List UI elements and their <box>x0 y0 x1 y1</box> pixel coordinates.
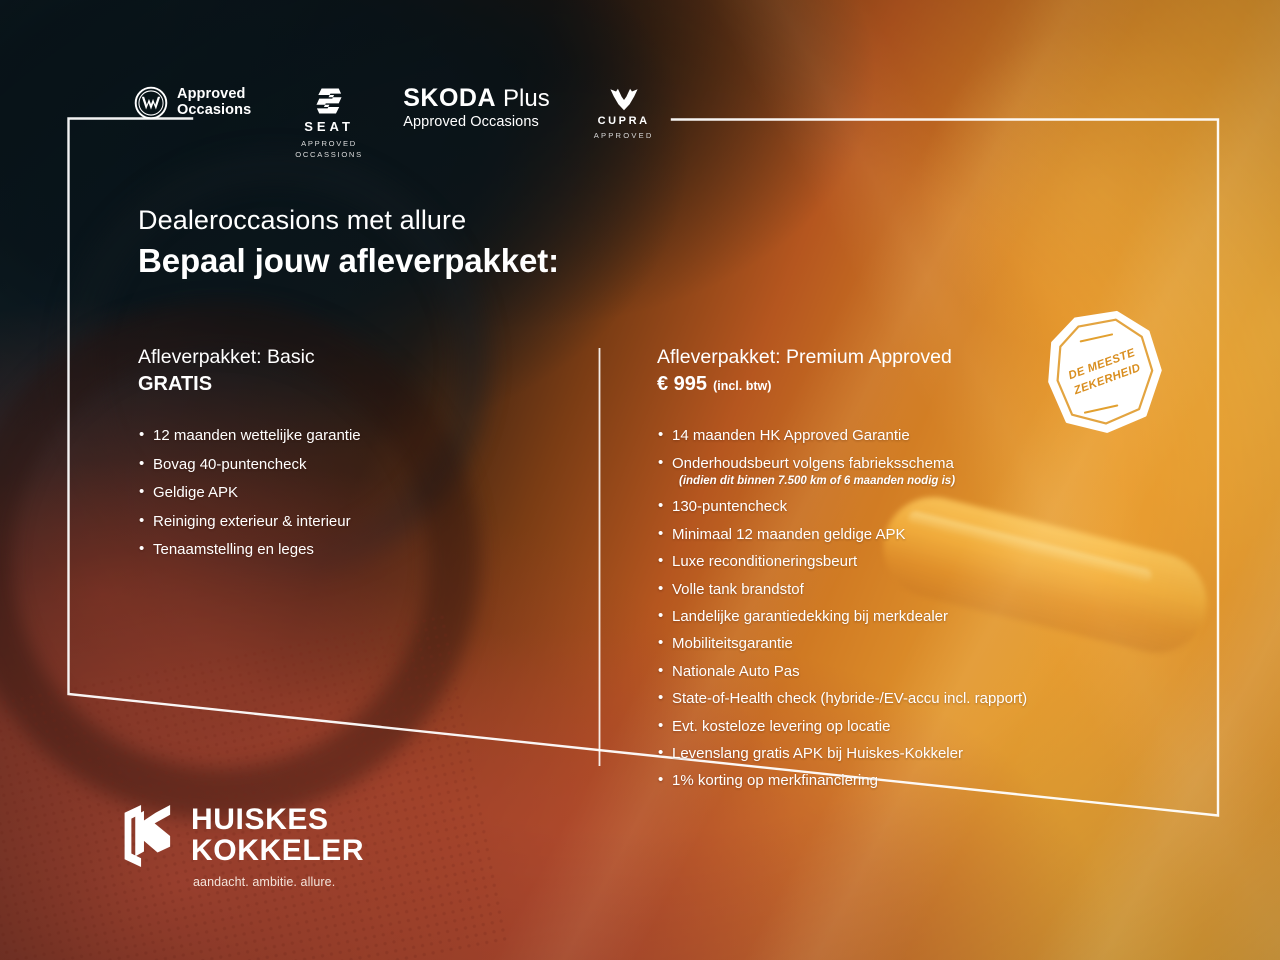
feature-text: Onderhoudsbeurt volgens fabrieksschema <box>672 455 954 472</box>
list-item: Volle tank brandstof <box>657 581 1147 598</box>
seat-logo-icon <box>316 86 342 116</box>
list-item: 130-puntencheck <box>657 498 1147 515</box>
dealer-tagline: aandacht. ambitie. allure. <box>193 875 364 889</box>
list-item: Geldige APK <box>138 484 568 501</box>
feature-text: Nationale Auto Pas <box>672 663 800 680</box>
vw-logo-icon <box>134 86 168 120</box>
package-column-basic: Afleverpakket: Basic GRATIS 12 maanden w… <box>138 345 568 569</box>
basic-package-name: Afleverpakket: Basic <box>138 345 568 370</box>
headline-title: Bepaal jouw afleverpakket: <box>138 242 559 280</box>
cupra-logo-word: CUPRA <box>594 116 654 127</box>
premium-feature-list: 14 maanden HK Approved Garantie Onderhou… <box>657 427 1147 789</box>
headline-block: Dealeroccasions met allure Bepaal jouw a… <box>138 204 559 280</box>
feature-text: State-of-Health check (hybride-/EV-accu … <box>672 690 1027 707</box>
poster-canvas: Approved Occasions SEAT APPROVED OCCASSI… <box>0 0 1280 960</box>
list-item: Minimaal 12 maanden geldige APK <box>657 526 1147 543</box>
feature-text: 12 maanden wettelijke garantie <box>153 427 361 444</box>
feature-text: Volle tank brandstof <box>672 581 804 598</box>
logo-skoda-plus-approved-occasions: SKODA Plus Approved Occasions <box>403 86 549 130</box>
feature-text: Tenaamstelling en leges <box>153 541 314 558</box>
feature-text: Landelijke garantiedekking bij merkdeale… <box>672 608 948 625</box>
brand-logo-strip: Approved Occasions SEAT APPROVED OCCASSI… <box>134 86 678 161</box>
vw-logo-line1: Approved <box>177 87 251 103</box>
huiskes-kokkeler-monogram-icon <box>112 804 174 868</box>
dealer-name-block: HUISKES KOKKELER aandacht. ambitie. allu… <box>191 802 364 889</box>
headline-kicker: Dealeroccasions met allure <box>138 204 559 238</box>
vw-logo-text: Approved Occasions <box>177 87 251 118</box>
feature-text: Geldige APK <box>153 484 238 501</box>
vw-logo-line2: Occasions <box>177 103 251 119</box>
basic-feature-list: 12 maanden wettelijke garantie Bovag 40-… <box>138 427 568 558</box>
list-item: Evt. kosteloze levering op locatie <box>657 718 1147 735</box>
cupra-logo-icon <box>609 88 639 111</box>
feature-text: Mobiliteitsgarantie <box>672 635 793 652</box>
feature-text: Bovag 40-puntencheck <box>153 456 306 473</box>
list-item: Tenaamstelling en leges <box>138 541 568 558</box>
dealer-name-line2: KOKKELER <box>191 835 364 866</box>
skoda-logo-word: SKODA <box>403 86 496 111</box>
list-item: Onderhoudsbeurt volgens fabrieksschema (… <box>657 455 1147 489</box>
list-item: Mobiliteitsgarantie <box>657 635 1147 652</box>
list-item: Bovag 40-puntencheck <box>138 456 568 473</box>
status-badge-de-meeste-zekerheid: DE MEESTE ZEKERHEID <box>1037 303 1173 444</box>
seat-logo-sub1: APPROVED <box>295 138 363 149</box>
list-item: Luxe reconditioneringsbeurt <box>657 553 1147 570</box>
list-item: Nationale Auto Pas <box>657 663 1147 680</box>
logo-cupra-approved: CUPRA APPROVED <box>594 86 678 140</box>
list-item: State-of-Health check (hybride-/EV-accu … <box>657 690 1147 707</box>
logo-volkswagen-approved-occasions: Approved Occasions <box>134 86 251 120</box>
feature-text: Luxe reconditioneringsbeurt <box>672 553 857 570</box>
feature-text: 14 maanden HK Approved Garantie <box>672 427 910 444</box>
dealer-name-line1: HUISKES <box>191 804 364 835</box>
dealer-logo-huiskes-kokkeler: HUISKES KOKKELER aandacht. ambitie. allu… <box>112 802 364 889</box>
list-item: Reiniging exterieur & interieur <box>138 513 568 530</box>
list-item: Landelijke garantiedekking bij merkdeale… <box>657 608 1147 625</box>
feature-text: Evt. kosteloze levering op locatie <box>672 718 890 735</box>
skoda-logo-sub: Approved Occasions <box>403 114 549 130</box>
skoda-wordmark: SKODA Plus <box>403 86 549 111</box>
feature-text: 1% korting op merkfinanciering <box>672 772 878 789</box>
cupra-logo-sub: APPROVED <box>594 131 654 140</box>
premium-package-price-note: (incl. btw) <box>713 379 771 393</box>
skoda-logo-plus: Plus <box>503 87 550 111</box>
feature-text: Reiniging exterieur & interieur <box>153 513 351 530</box>
feature-text: Levenslang gratis APK bij Huiskes-Kokkel… <box>672 745 963 762</box>
feature-note: (indien dit binnen 7.500 km of 6 maanden… <box>679 475 1147 488</box>
seat-logo-sub: APPROVED OCCASSIONS <box>295 138 363 161</box>
seat-logo-sub2: OCCASSIONS <box>295 149 363 160</box>
list-item: 12 maanden wettelijke garantie <box>138 427 568 444</box>
basic-package-price: GRATIS <box>138 371 568 397</box>
feature-text: Minimaal 12 maanden geldige APK <box>672 526 905 543</box>
feature-text: 130-puntencheck <box>672 498 787 515</box>
list-item: 1% korting op merkfinanciering <box>657 772 1147 789</box>
premium-package-price: € 995 <box>657 373 707 395</box>
seat-logo-word: SEAT <box>295 120 363 133</box>
list-item: Levenslang gratis APK bij Huiskes-Kokkel… <box>657 745 1147 762</box>
logo-seat-approved-occassions: SEAT APPROVED OCCASSIONS <box>295 86 373 161</box>
